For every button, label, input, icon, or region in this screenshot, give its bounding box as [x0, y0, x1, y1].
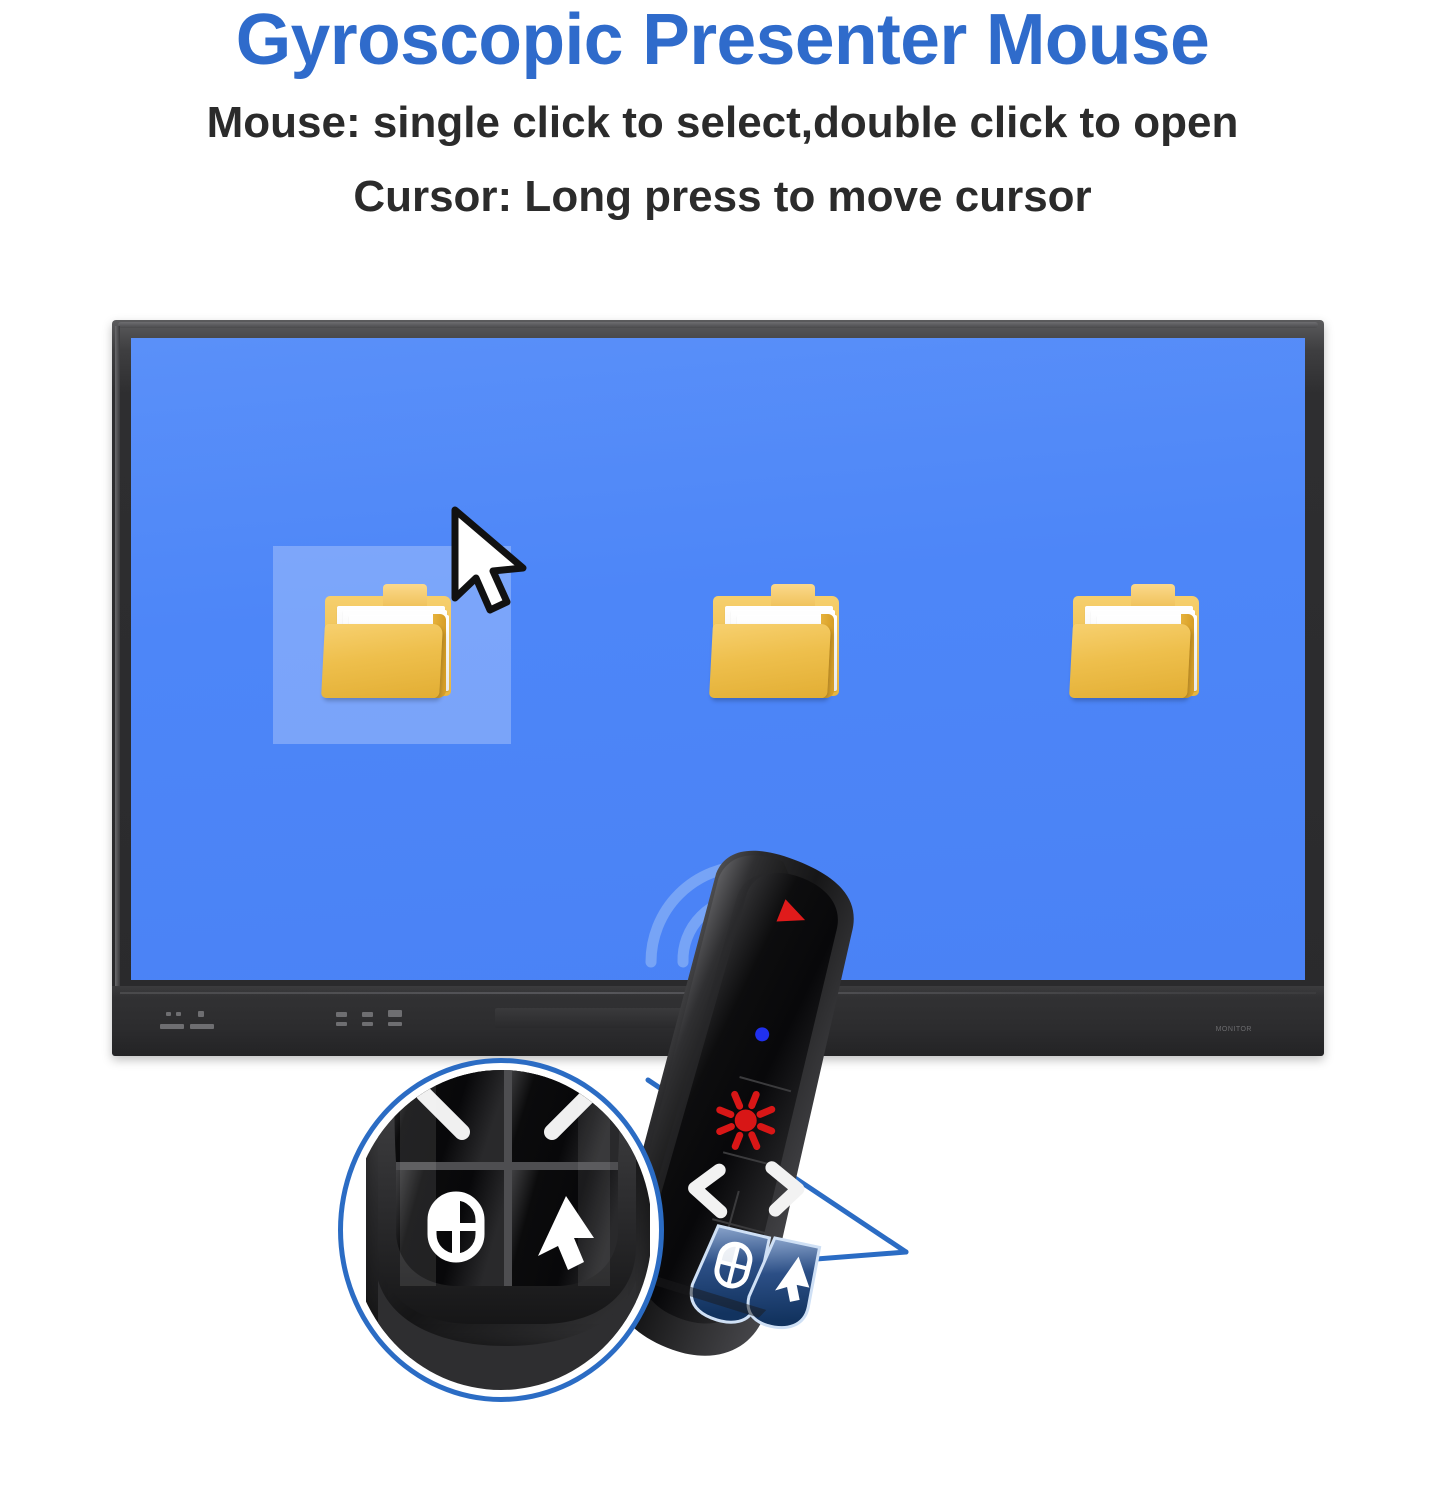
bezel-port-label — [336, 1012, 347, 1017]
folder-icon-3[interactable] — [1069, 584, 1205, 702]
bezel-marking — [176, 1012, 181, 1016]
desktop-cursor — [449, 506, 535, 616]
header-block: Gyroscopic Presenter Mouse Mouse: single… — [0, 0, 1445, 234]
bezel-marking — [160, 1024, 184, 1029]
bezel-port-label — [388, 1022, 402, 1026]
closeup-gloss — [400, 1070, 436, 1286]
subtitle-line-mouse: Mouse: single click to select,double cli… — [0, 78, 1445, 160]
folder-front-panel — [321, 624, 443, 698]
closeup-buttons — [350, 1070, 652, 1390]
closeup-divider-vertical — [504, 1070, 512, 1286]
mouse-icon — [432, 1196, 480, 1258]
bezel-marking — [190, 1024, 214, 1029]
bezel-port-label — [362, 1022, 373, 1026]
bezel-left-highlight — [115, 326, 120, 986]
folder-icon-2[interactable] — [709, 584, 845, 702]
folder-front-panel — [709, 624, 831, 698]
magnifier-inner — [350, 1070, 652, 1390]
cursor-arrow-icon — [449, 506, 535, 616]
bezel-port-label — [388, 1010, 402, 1017]
closeup-gloss — [578, 1070, 610, 1286]
bezel-top-highlight — [118, 322, 1318, 328]
page-title: Gyroscopic Presenter Mouse — [7, 0, 1438, 78]
bezel-port-label — [336, 1022, 347, 1026]
folder-icon-1[interactable] — [321, 584, 457, 702]
bezel-brand-text: MONITOR — [1216, 1026, 1252, 1033]
magnifier-ring — [338, 1058, 664, 1402]
bezel-marking — [166, 1012, 171, 1016]
folder-front-panel — [1069, 624, 1191, 698]
bezel-marking — [198, 1011, 204, 1017]
folder-tab — [771, 584, 815, 606]
subtitle-line-cursor: Cursor: Long press to move cursor — [0, 160, 1445, 234]
bezel-port-label — [362, 1012, 373, 1017]
button-closeup-callout — [338, 1058, 664, 1402]
folder-tab — [1131, 584, 1175, 606]
folder-tab — [383, 584, 427, 606]
